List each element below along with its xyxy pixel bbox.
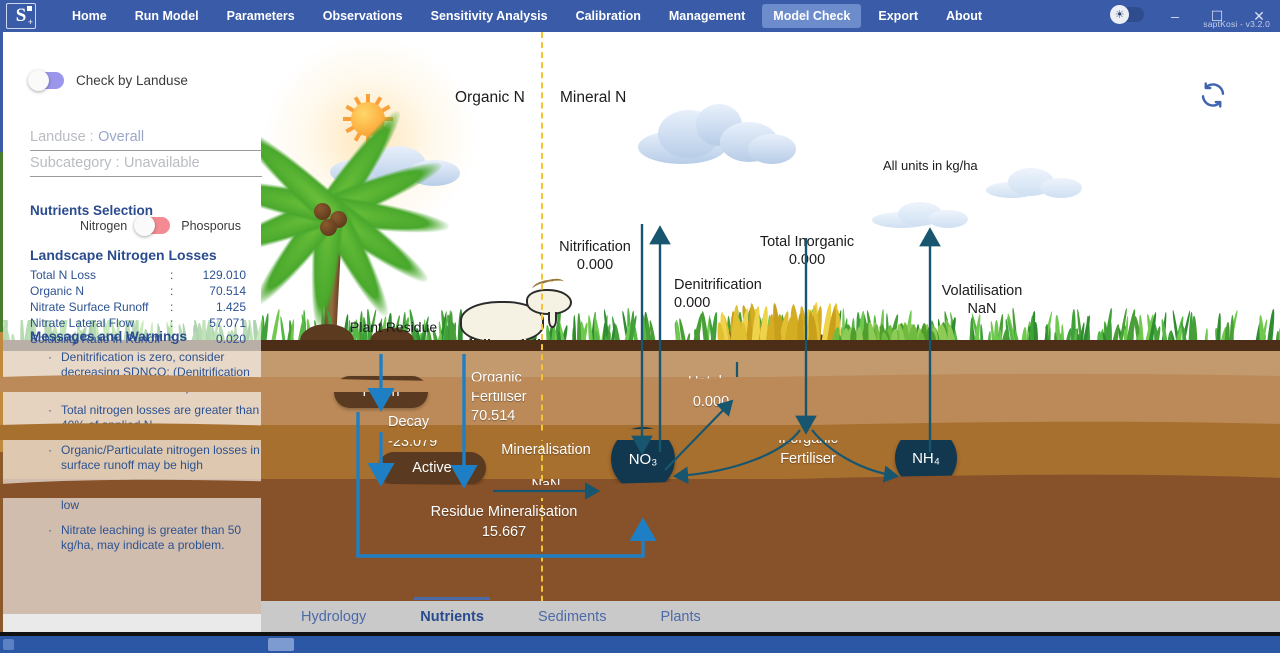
label-plant-residue: Plant Residue bbox=[350, 319, 437, 337]
check-by-landuse-row: Check by Landuse bbox=[30, 72, 188, 89]
logo-tick-icon bbox=[27, 6, 32, 11]
node-no3[interactable]: NO₃ bbox=[611, 427, 675, 491]
nav-item-parameters[interactable]: Parameters bbox=[216, 4, 306, 28]
nav-item-management[interactable]: Management bbox=[658, 4, 756, 28]
loss-name-organic-n: Organic N bbox=[30, 284, 170, 298]
label-inorganic-fertiliser: Inorganic Fertiliser bbox=[760, 430, 856, 469]
loss-row-organic-n: Organic N : 70.514 bbox=[30, 284, 262, 298]
loss-value-nitrate-lateral-flow: 57.071 bbox=[184, 316, 246, 330]
nutrient-label-nitrogen: Nitrogen bbox=[80, 219, 127, 233]
nav-item-about[interactable]: About bbox=[935, 4, 993, 28]
label-organic-n: Organic N bbox=[455, 88, 525, 107]
grass-blade bbox=[1267, 309, 1276, 344]
theme-icon: ☀ bbox=[1110, 5, 1129, 24]
warning-text-2: Total nitrogen losses are greater than 4… bbox=[61, 403, 264, 433]
label-uptake-text: Uptake bbox=[688, 374, 734, 390]
landuse-field-value: Overall bbox=[98, 129, 144, 145]
label-total-inorganic: Total Inorganic 0.000 bbox=[748, 233, 866, 269]
taskbar-start-icon[interactable] bbox=[3, 639, 14, 650]
subcategory-field[interactable]: Subcategory : Unavailable bbox=[30, 154, 262, 177]
label-volatilisation-text: Volatilisation bbox=[942, 283, 1023, 299]
cloud-main bbox=[638, 104, 796, 166]
app-logo[interactable]: S + bbox=[6, 3, 36, 29]
warning-item-3: · Organic/Particulate nitrogen losses in… bbox=[48, 443, 264, 473]
tab-nutrients[interactable]: Nutrients bbox=[406, 603, 498, 631]
label-mineralisation: Mineralisation NaN bbox=[482, 441, 610, 494]
landuse-field[interactable]: Landuse : Overall bbox=[30, 128, 262, 151]
label-nitrification-text: Nitrification bbox=[559, 239, 631, 255]
nav-item-sensitivity-analysis[interactable]: Sensitivity Analysis bbox=[420, 4, 559, 28]
grass-blade bbox=[271, 309, 281, 344]
label-organic-fertiliser: Organic Fertiliser 70.514 bbox=[471, 369, 527, 426]
cloud-small-right bbox=[986, 166, 1082, 198]
nav-item-home[interactable]: Home bbox=[61, 4, 118, 28]
label-decay-text: Decay bbox=[388, 414, 429, 430]
label-denitrification-value: 0.000 bbox=[674, 295, 710, 311]
os-taskbar[interactable] bbox=[0, 636, 1280, 653]
check-by-landuse-label: Check by Landuse bbox=[76, 73, 188, 88]
pool-fresh[interactable]: Fresh bbox=[334, 376, 428, 408]
nav-item-observations[interactable]: Observations bbox=[312, 4, 414, 28]
nav-item-calibration[interactable]: Calibration bbox=[565, 4, 652, 28]
tab-plants[interactable]: Plants bbox=[646, 603, 714, 631]
label-denitrification: Denitrification 0.000 bbox=[674, 276, 762, 312]
loss-name-nitrate-surface-runoff: Nitrate Surface Runoff bbox=[30, 300, 170, 314]
refresh-icon[interactable] bbox=[1198, 80, 1228, 110]
label-total-inorganic-value: 0.000 bbox=[789, 252, 825, 268]
warning-item-5: · Nitrate leaching is greater than 50 kg… bbox=[48, 523, 264, 553]
label-organic-fertiliser-value: 70.514 bbox=[471, 408, 515, 424]
label-mineral-n: Mineral N bbox=[560, 88, 626, 107]
nutrient-toggle[interactable] bbox=[136, 217, 170, 234]
label-units-note: All units in kg/ha bbox=[883, 158, 978, 174]
loss-sep-total-n: : bbox=[170, 268, 184, 282]
loss-row-nitrate-lateral-flow: Nitrate Lateral Flow : 57.071 bbox=[30, 316, 262, 330]
label-nitrification: Nitrification 0.000 bbox=[552, 238, 638, 274]
nutrient-label-phosporus: Phosporus bbox=[181, 219, 241, 233]
loss-name-nitrate-lateral-flow: Nitrate Lateral Flow bbox=[30, 316, 170, 330]
cloud-small-left bbox=[872, 198, 968, 228]
loss-sep-nitrate-lateral-flow: : bbox=[170, 316, 184, 330]
label-uptake: Uptake 0.000 bbox=[672, 373, 750, 412]
warning-bullet-1: · bbox=[48, 350, 61, 395]
warning-bullet-4: · bbox=[48, 483, 61, 513]
label-mineralisation-value: NaN bbox=[531, 477, 560, 493]
tab-hydrology[interactable]: Hydrology bbox=[287, 603, 380, 631]
label-inorganic-fertiliser-line1: Inorganic bbox=[778, 431, 838, 447]
label-decay: Decay -23.079 bbox=[388, 413, 437, 452]
warnings-title: Messages and Warnings bbox=[30, 329, 187, 344]
label-residue-mineralisation: Residue Mineralisation 15.667 bbox=[368, 503, 640, 542]
nav-items: Home Run Model Parameters Observations S… bbox=[58, 0, 996, 32]
check-by-landuse-toggle[interactable] bbox=[30, 72, 64, 89]
nav-item-export[interactable]: Export bbox=[867, 4, 929, 28]
warning-text-4: Solubility ratio for nitrogen in runoff … bbox=[61, 483, 264, 513]
warning-bullet-2: · bbox=[48, 403, 61, 433]
loss-sep-organic-n: : bbox=[170, 284, 184, 298]
application-window: S + Home Run Model Parameters Observatio… bbox=[0, 0, 1280, 653]
warning-bullet-3: · bbox=[48, 443, 61, 473]
theme-toggle[interactable]: ☀ bbox=[1110, 7, 1144, 22]
version-label: saptKosi - v3.2.0 bbox=[1203, 19, 1270, 29]
app-logo-letter: S bbox=[16, 5, 27, 27]
tab-sediments[interactable]: Sediments bbox=[524, 603, 621, 631]
label-nitrification-value: 0.000 bbox=[577, 257, 613, 273]
nutrients-selection-title: Nutrients Selection bbox=[30, 203, 153, 218]
label-volatilisation: Volatilisation NaN bbox=[930, 282, 1034, 318]
subcategory-field-label: Subcategory : bbox=[30, 155, 119, 171]
nav-item-model-check[interactable]: Model Check bbox=[762, 4, 861, 28]
label-volatilisation-value: NaN bbox=[967, 301, 996, 317]
label-total-inorganic-text: Total Inorganic bbox=[760, 234, 854, 250]
left-control-panel: Check by Landuse Landuse : Overall Subca… bbox=[3, 32, 261, 632]
warning-text-5: Nitrate leaching is greater than 50 kg/h… bbox=[61, 523, 264, 553]
node-nh4[interactable]: NH₄ bbox=[895, 427, 957, 489]
loss-sep-nitrate-surface-runoff: : bbox=[170, 300, 184, 314]
loss-row-total-n: Total N Loss : 129.010 bbox=[30, 268, 262, 282]
loss-row-nitrate-surface-runoff: Nitrate Surface Runoff : 1.425 bbox=[30, 300, 262, 314]
label-denitrification-text: Denitrification bbox=[674, 277, 762, 293]
top-navigation-bar: S + Home Run Model Parameters Observatio… bbox=[0, 0, 1280, 32]
label-residue-mineralisation-value: 15.667 bbox=[482, 524, 526, 540]
taskbar-window-icon[interactable] bbox=[268, 638, 294, 651]
warning-text-1: Denitrification is zero, consider decrea… bbox=[61, 350, 264, 395]
losses-title: Landscape Nitrogen Losses bbox=[30, 247, 217, 263]
loss-value-nitrate-surface-runoff: 1.425 bbox=[184, 300, 246, 314]
label-mineralisation-text: Mineralisation bbox=[501, 442, 590, 458]
label-organic-fertiliser-line2: Fertiliser bbox=[471, 389, 527, 405]
label-inorganic-fertiliser-line2: Fertiliser bbox=[780, 451, 836, 467]
nutrient-toggle-row: Nitrogen Phosporus bbox=[80, 217, 241, 234]
label-residue-mineralisation-text: Residue Mineralisation bbox=[431, 504, 578, 520]
logo-plus-icon: + bbox=[28, 18, 33, 27]
crop-stalk bbox=[789, 306, 798, 344]
pool-active[interactable]: Active bbox=[378, 452, 486, 484]
loss-name-total-n: Total N Loss bbox=[30, 268, 170, 282]
nav-item-run-model[interactable]: Run Model bbox=[124, 4, 210, 28]
warning-item-1: · Denitrification is zero, consider decr… bbox=[48, 350, 264, 395]
loss-value-total-n: 129.010 bbox=[184, 268, 246, 282]
bottom-tab-bar: Hydrology Nutrients Sediments Plants bbox=[261, 601, 1280, 632]
label-uptake-value: 0.000 bbox=[693, 394, 729, 410]
loss-value-organic-n: 70.514 bbox=[184, 284, 246, 298]
warning-text-3: Organic/Particulate nitrogen losses in s… bbox=[61, 443, 264, 473]
warning-item-4: · Solubility ratio for nitrogen in runof… bbox=[48, 483, 264, 513]
loss-value-solubility-ratio: 0.020 bbox=[184, 332, 246, 346]
warning-item-2: · Total nitrogen losses are greater than… bbox=[48, 403, 264, 433]
label-organic-fertiliser-line1: Organic bbox=[471, 370, 522, 386]
subcategory-field-value: Unavailable bbox=[124, 155, 200, 171]
minimize-button[interactable]: – bbox=[1154, 3, 1196, 29]
label-decay-value: -23.079 bbox=[388, 434, 437, 450]
warning-bullet-5: · bbox=[48, 523, 61, 553]
landuse-field-label: Landuse : bbox=[30, 129, 94, 145]
